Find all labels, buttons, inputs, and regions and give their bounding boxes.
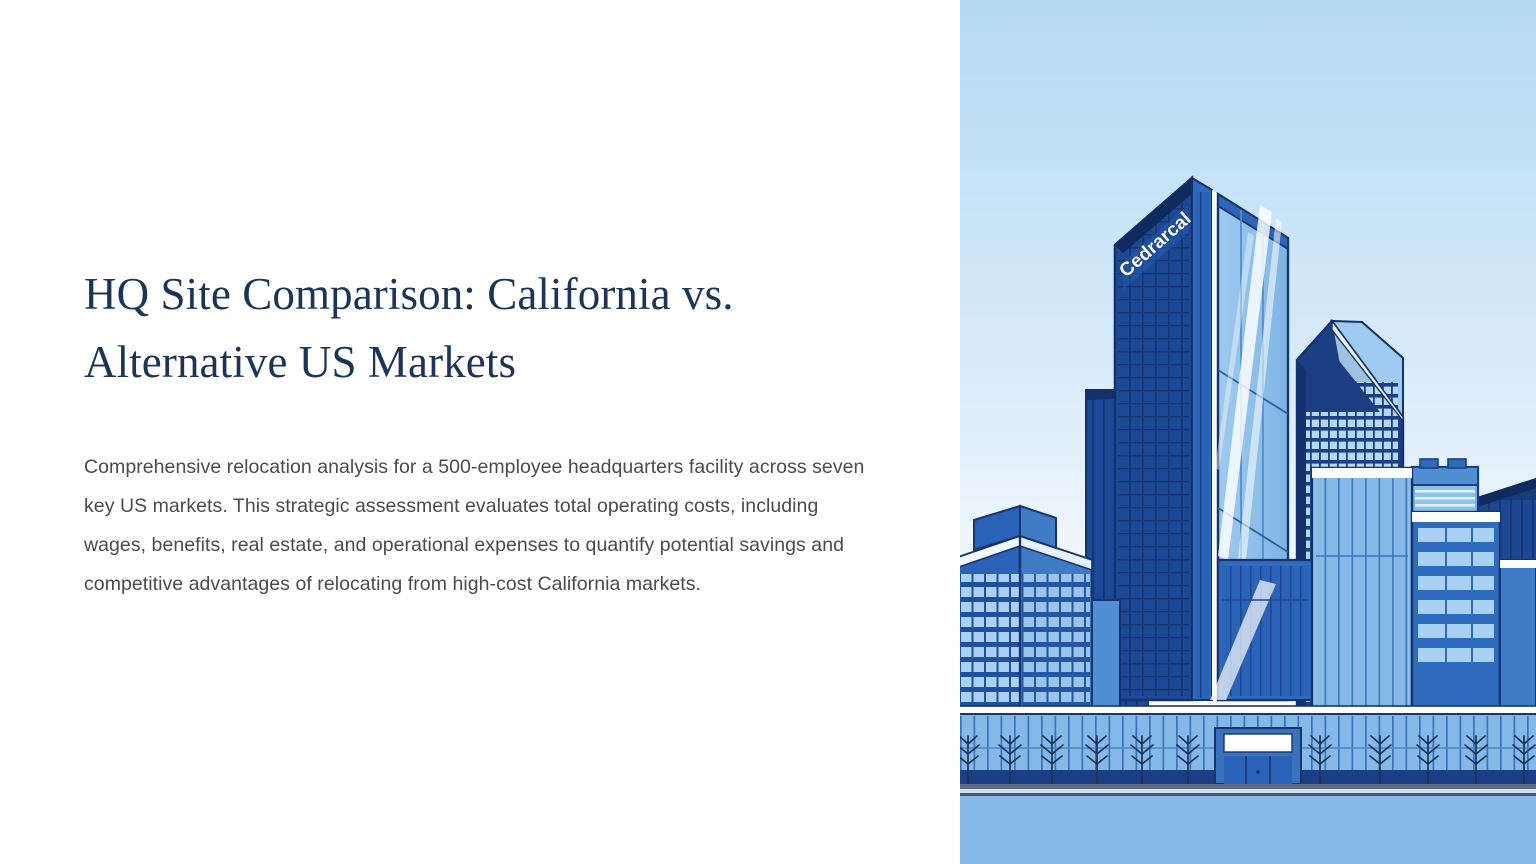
page-subtitle-paragraph: Comprehensive relocation analysis for a …	[84, 448, 874, 604]
city-skyline-illustration: Cedrarcal	[960, 0, 1536, 864]
left-small-podium	[1092, 600, 1120, 712]
title-text-panel: HQ Site Comparison: California vs. Alter…	[0, 0, 960, 864]
skyline-illustration-panel: Cedrarcal	[960, 0, 1536, 864]
slide-root: HQ Site Comparison: California vs. Alter…	[0, 0, 1536, 864]
plaza-entrance	[1215, 728, 1301, 784]
foreground-ground	[960, 796, 1536, 864]
page-title: HQ Site Comparison: California vs. Alter…	[84, 260, 900, 396]
center-flagship-tower: Cedrarcal	[1115, 178, 1218, 700]
podium-plaza	[960, 706, 1536, 796]
